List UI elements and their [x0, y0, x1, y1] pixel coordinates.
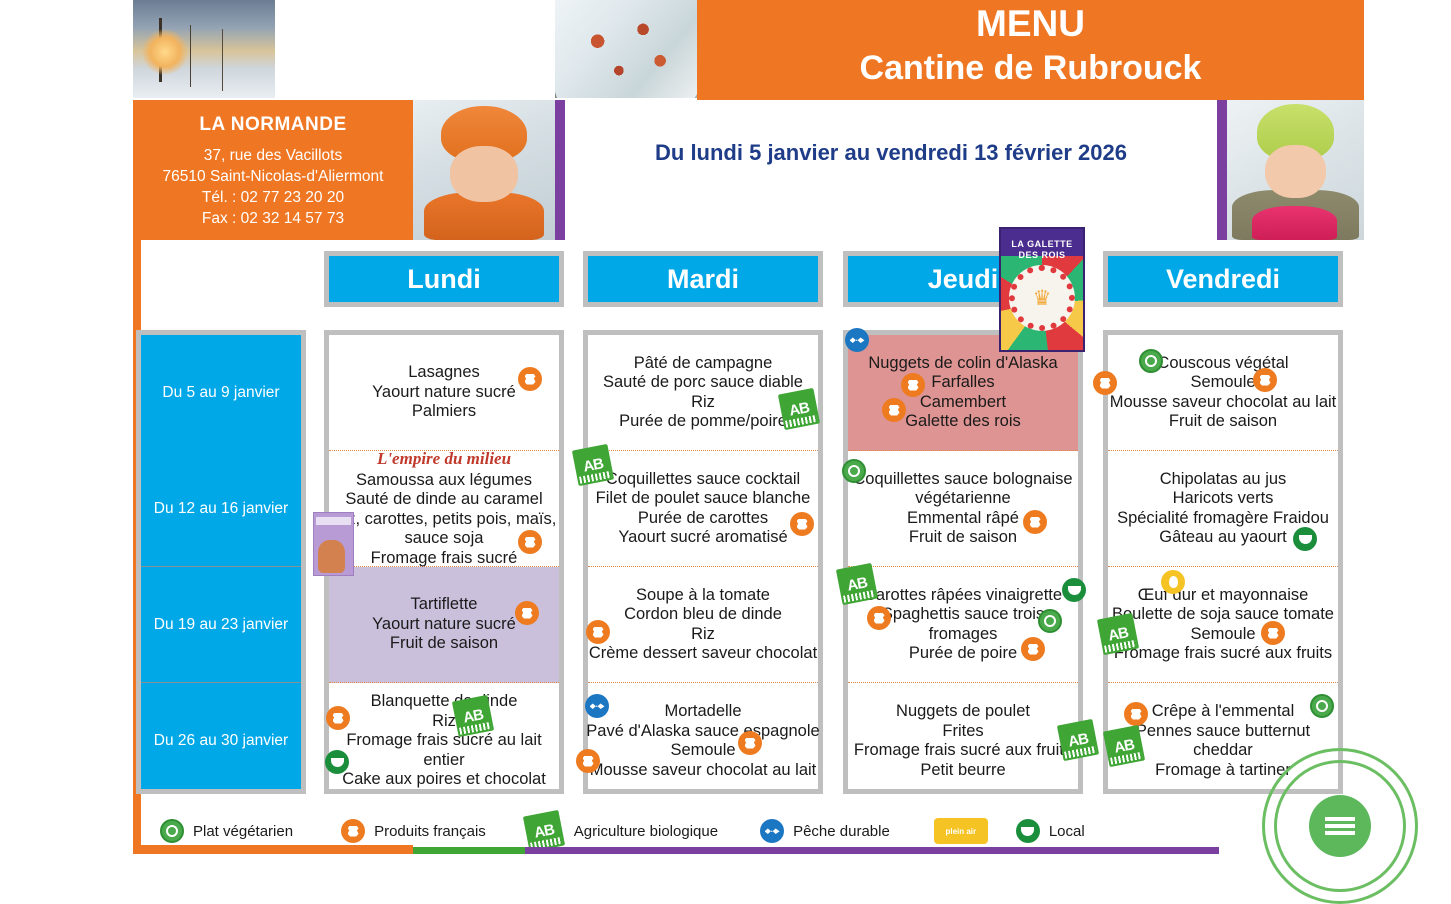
- local-icon: [325, 750, 349, 774]
- legend-item-organic: AB Agriculture biologique: [526, 813, 718, 849]
- menu-line: Riz: [691, 625, 715, 645]
- egg-badge-text: plein air: [945, 827, 976, 836]
- menu-line: Purée de pomme/poire: [619, 412, 787, 432]
- french-products-icon: [515, 601, 539, 625]
- organic-ab-icon: AB: [572, 444, 614, 486]
- page-subtitle: Cantine de Rubrouck: [697, 46, 1364, 90]
- special-menu-title: L'empire du milieu: [377, 449, 511, 469]
- menu-line: Tartiflette: [411, 595, 478, 615]
- day-header-vendredi: Vendredi: [1103, 251, 1343, 307]
- menu-line: Gâteau au yaourt: [1159, 528, 1287, 548]
- menu-line: fromages: [929, 625, 998, 645]
- vegetarian-icon: [1038, 609, 1062, 633]
- menu-line: Mousse saveur chocolat au lait: [590, 761, 817, 781]
- menu-line: Galette des rois: [905, 412, 1021, 432]
- french-products-icon: [1261, 621, 1285, 645]
- day-column-lundi: Lasagnes Yaourt nature sucré Palmiers L'…: [324, 330, 564, 794]
- french-products-icon: [326, 706, 350, 730]
- menu-line: Blanquette de dinde: [371, 692, 518, 712]
- menu-cell-jeudi-w1: Nuggets de colin d'Alaska Farfalles Came…: [848, 335, 1078, 451]
- menu-cell-mardi-w4: Mortadelle Pavé d'Alaska sauce espagnole…: [588, 683, 818, 799]
- menu-line: sauce soja: [405, 529, 484, 549]
- menu-line: Cake aux poires et chocolat: [342, 770, 546, 790]
- menu-line: Semoule: [670, 741, 735, 761]
- company-street: 37, rue des Vacillots: [133, 145, 413, 166]
- menu-line: Mousse saveur chocolat au lait: [1110, 393, 1337, 413]
- menu-cell-jeudi-w4: Nuggets de poulet Frites Fromage frais s…: [848, 683, 1078, 799]
- legend-label: Agriculture biologique: [574, 823, 718, 840]
- menu-line: Purée de carottes: [638, 509, 768, 529]
- organic-ab-icon: AB: [1057, 719, 1099, 761]
- french-products-icon: [867, 606, 891, 630]
- sustainable-fishing-icon: [845, 328, 869, 352]
- legend-item-local: plein air Local: [934, 818, 1085, 844]
- legend-label: Local: [1049, 823, 1085, 840]
- menu-line: Frites: [942, 722, 983, 742]
- menu-line: Sauté de dinde au caramel: [345, 490, 542, 510]
- vegetarian-icon: [1310, 694, 1334, 718]
- legend-item-french: Produits français: [341, 819, 486, 843]
- menu-line: entier: [423, 751, 464, 771]
- menu-line: Yaourt nature sucré: [372, 383, 516, 403]
- menu-line: Fromage frais sucré aux fruits: [1114, 644, 1332, 664]
- french-products-icon: [1253, 368, 1277, 392]
- menu-line: Samoussa aux légumes: [356, 471, 532, 491]
- menu-line: Riz: [432, 712, 456, 732]
- menu-title-block: MENU Cantine de Rubrouck: [697, 0, 1364, 100]
- french-products-icon: [586, 620, 610, 644]
- footer-bar-orange: [133, 847, 413, 854]
- vegetarian-icon: [1139, 349, 1163, 373]
- menu-line: Lasagnes: [408, 363, 480, 383]
- french-products-icon: [518, 367, 542, 391]
- day-column-jeudi: Nuggets de colin d'Alaska Farfalles Came…: [843, 330, 1083, 794]
- legend-label: Pêche durable: [793, 823, 890, 840]
- organic-ab-icon: AB: [1103, 725, 1145, 767]
- menu-line: Fromage frais sucré aux fruits: [854, 741, 1072, 761]
- menu-line: Spaghettis sauce trois: [882, 605, 1044, 625]
- menu-line: Yaourt sucré aromatisé: [618, 528, 787, 548]
- week-label-3: Du 19 au 23 janvier: [141, 567, 301, 683]
- purple-divider-right: [1217, 100, 1227, 240]
- company-info-block: LA NORMANDE 37, rue des Vacillots 76510 …: [133, 100, 413, 240]
- photo-girl-orange-hat: [413, 100, 555, 240]
- sustainable-fishing-icon: [760, 819, 784, 843]
- legend-item-fishing: Pêche durable: [760, 819, 890, 843]
- menu-line: Fromage frais sucré: [371, 549, 518, 569]
- menu-line: Chipolatas au jus: [1160, 470, 1287, 490]
- legend-label: Produits français: [374, 823, 486, 840]
- french-products-icon: [901, 373, 925, 397]
- menu-line: Fruit de saison: [390, 634, 498, 654]
- menu-cell-mardi-w3: Soupe à la tomate Cordon bleu de dinde R…: [588, 567, 818, 683]
- organic-ab-icon: AB: [523, 810, 565, 852]
- french-products-icon: [1021, 637, 1045, 661]
- organic-ab-icon: AB: [778, 388, 820, 430]
- menu-line: Fromage à tartiner: [1155, 761, 1291, 781]
- menu-line: Nuggets de colin d'Alaska: [868, 354, 1057, 374]
- menu-line: Fromage frais sucré au lait: [346, 731, 541, 751]
- local-icon: [1293, 527, 1317, 551]
- menu-line: Boulette de soja sauce tomate: [1112, 605, 1334, 625]
- menu-line: Spécialité fromagère Fraidou: [1117, 509, 1329, 529]
- menu-line: Semoule: [1190, 625, 1255, 645]
- galette-title-line1: LA GALETTE: [1001, 239, 1083, 250]
- local-icon: [1016, 819, 1040, 843]
- menu-line: Camembert: [920, 393, 1006, 413]
- sustainable-fishing-icon: [585, 694, 609, 718]
- menu-line: Pennes sauce butternut: [1136, 722, 1310, 742]
- book-thumbnail-image: [313, 512, 354, 576]
- menu-line: Nuggets de poulet: [896, 702, 1030, 722]
- menu-line: Purée de poire: [909, 644, 1017, 664]
- menu-line: Emmental râpé: [907, 509, 1019, 529]
- menu-cell-jeudi-w2: Coquillettes sauce bolognaise végétarien…: [848, 451, 1078, 567]
- vegetarian-icon: [842, 459, 866, 483]
- footer-bar-green: [413, 847, 525, 854]
- date-range: Du lundi 5 janvier au vendredi 13 févrie…: [565, 140, 1217, 166]
- menu-line: Haricots verts: [1173, 489, 1274, 509]
- menu-line: Crêpe à l'emmental: [1152, 702, 1295, 722]
- menu-line: cheddar: [1193, 741, 1253, 761]
- menu-line: Semoule: [1190, 373, 1255, 393]
- menu-line: Filet de poulet sauce blanche: [596, 489, 811, 509]
- menu-line: Sauté de porc sauce diable: [603, 373, 803, 393]
- galette-title-line2: DES ROIS: [1001, 250, 1083, 261]
- footer-bar-purple: [525, 847, 1219, 854]
- local-icon: [1062, 578, 1086, 602]
- crown-icon: ♛: [1033, 285, 1052, 310]
- free-range-egg-icon: [1161, 570, 1185, 594]
- menu-line: Farfalles: [931, 373, 994, 393]
- day-header-lundi: Lundi: [324, 251, 564, 307]
- legend-bar: Plat végétarien Produits français AB Agr…: [160, 816, 1220, 846]
- organic-ab-icon: AB: [452, 695, 494, 737]
- menu-line: Petit beurre: [920, 761, 1005, 781]
- purple-divider-left: [555, 100, 565, 240]
- day-header-mardi: Mardi: [583, 251, 823, 307]
- menu-line: Mortadelle: [664, 702, 741, 722]
- menu-line: Fruit de saison: [1169, 412, 1277, 432]
- menu-line: Riz: [691, 393, 715, 413]
- menu-line: Riz, carottes, petits pois, maïs,: [332, 510, 557, 530]
- french-products-icon: [341, 819, 365, 843]
- menu-cell-lundi-w4: Blanquette de dinde Riz Fromage frais su…: [329, 683, 559, 799]
- week-label-4: Du 26 au 30 janvier: [141, 683, 301, 799]
- organic-ab-icon: AB: [1097, 613, 1139, 655]
- menu-line: Palmiers: [412, 402, 476, 422]
- menu-line: Pâté de campagne: [634, 354, 773, 374]
- french-products-icon: [882, 398, 906, 422]
- page-title: MENU: [697, 2, 1364, 46]
- la-normande-stamp: LA NORMANDE: [1262, 748, 1418, 904]
- menu-line: végétarienne: [915, 489, 1010, 509]
- menu-line: Cordon bleu de dinde: [624, 605, 782, 625]
- menu-line: Crème dessert saveur chocolat: [589, 644, 817, 664]
- company-phone: Tél. : 02 77 23 20 20: [133, 187, 413, 208]
- week-label-column: Du 5 au 9 janvier Du 12 au 16 janvier Du…: [136, 330, 306, 794]
- photo-girl-green-hat: [1227, 100, 1364, 240]
- legend-item-vegetarian: Plat végétarien: [160, 819, 293, 843]
- week-label-1: Du 5 au 9 janvier: [141, 335, 301, 451]
- menu-line: Coquillettes sauce cocktail: [606, 470, 800, 490]
- photo-winter-trees: [133, 0, 275, 98]
- menu-line: Pavé d'Alaska sauce espagnole: [586, 722, 819, 742]
- french-products-icon: [738, 731, 762, 755]
- free-range-egg-icon: plein air: [934, 818, 988, 844]
- menu-cell-lundi-w1: Lasagnes Yaourt nature sucré Palmiers: [329, 335, 559, 451]
- french-products-icon: [1124, 702, 1148, 726]
- menu-line: Fruit de saison: [909, 528, 1017, 548]
- week-label-2: Du 12 au 16 janvier: [141, 451, 301, 567]
- menu-cell-lundi-w3: Tartiflette Yaourt nature sucré Fruit de…: [329, 567, 559, 683]
- menu-cell-vendredi-w3: Œuf dur et mayonnaise Boulette de soja s…: [1108, 567, 1338, 683]
- organic-ab-icon: AB: [836, 563, 878, 605]
- company-fax: Fax : 02 32 14 57 73: [133, 208, 413, 229]
- menu-line: Carottes râpées vinaigrette: [864, 586, 1062, 606]
- vegetarian-icon: [160, 819, 184, 843]
- company-city: 76510 Saint-Nicolas-d'Aliermont: [133, 166, 413, 187]
- legend-label: Plat végétarien: [193, 823, 293, 840]
- french-products-icon: [1093, 371, 1117, 395]
- french-products-icon: [1023, 510, 1047, 534]
- menu-cell-mardi-w2: Coquillettes sauce cocktail Filet de pou…: [588, 451, 818, 567]
- menu-line: Coquillettes sauce bolognaise: [853, 470, 1072, 490]
- menu-line: Yaourt nature sucré: [372, 615, 516, 635]
- galette-des-rois-poster: LA GALETTE DES ROIS ♛: [999, 227, 1085, 352]
- menu-line: Soupe à la tomate: [636, 586, 770, 606]
- photo-snowy-apples: [555, 0, 697, 98]
- menu-page: MENU Cantine de Rubrouck LA NORMANDE 37,…: [0, 0, 1451, 870]
- french-products-icon: [790, 512, 814, 536]
- french-products-icon: [518, 530, 542, 554]
- french-products-icon: [576, 749, 600, 773]
- company-name: LA NORMANDE: [133, 114, 413, 136]
